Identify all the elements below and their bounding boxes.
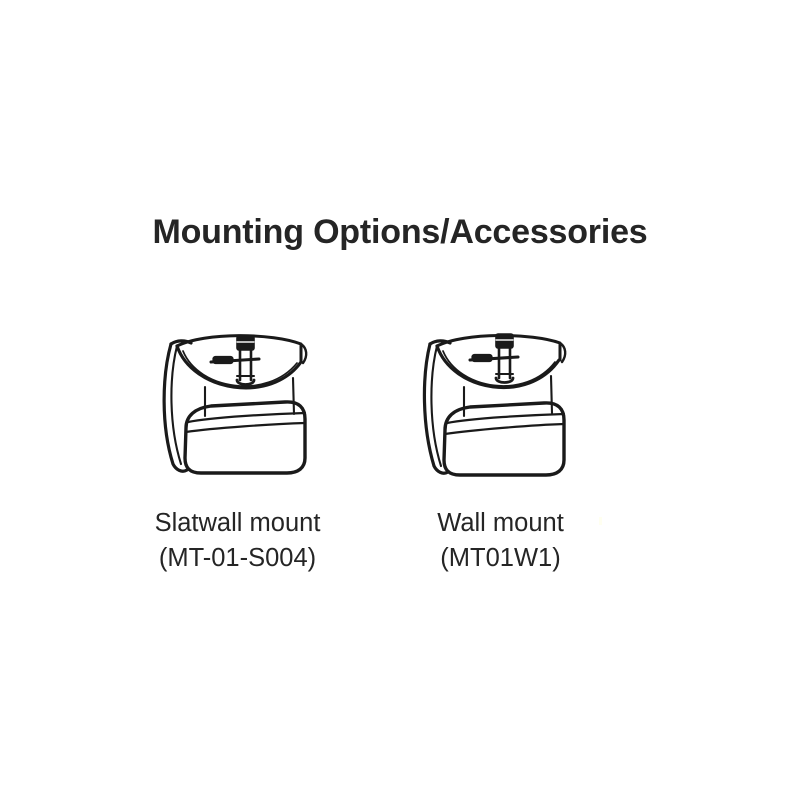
slatwall-mount-name: Slatwall mount <box>155 506 321 541</box>
bolt-assembly <box>211 336 259 385</box>
wall-mount-part-number: (MT01W1) <box>437 541 564 576</box>
bracket-outline <box>164 336 306 473</box>
slatwall-mount-caption: Slatwall mount (MT-01-S004) <box>155 506 321 576</box>
product-sheet-page: Mounting Options/Accessories <box>0 0 800 800</box>
product-item-slatwall-mount[interactable]: Slatwall mount (MT-01-S004) <box>106 318 369 576</box>
wall-mount-caption: Wall mount (MT01W1) <box>437 506 564 576</box>
slatwall-mount-illustration <box>153 318 323 486</box>
wall-mount-name: Wall mount <box>437 506 564 541</box>
bolt-assembly <box>470 334 518 383</box>
product-list: Slatwall mount (MT-01-S004) <box>100 318 700 576</box>
wall-mount-illustration <box>416 318 586 486</box>
scan-artifact <box>599 517 602 525</box>
page-title: Mounting Options/Accessories <box>0 210 800 254</box>
slatwall-mount-part-number: (MT-01-S004) <box>155 541 321 576</box>
bracket-outline <box>424 335 565 475</box>
product-item-wall-mount[interactable]: Wall mount (MT01W1) <box>369 318 632 576</box>
